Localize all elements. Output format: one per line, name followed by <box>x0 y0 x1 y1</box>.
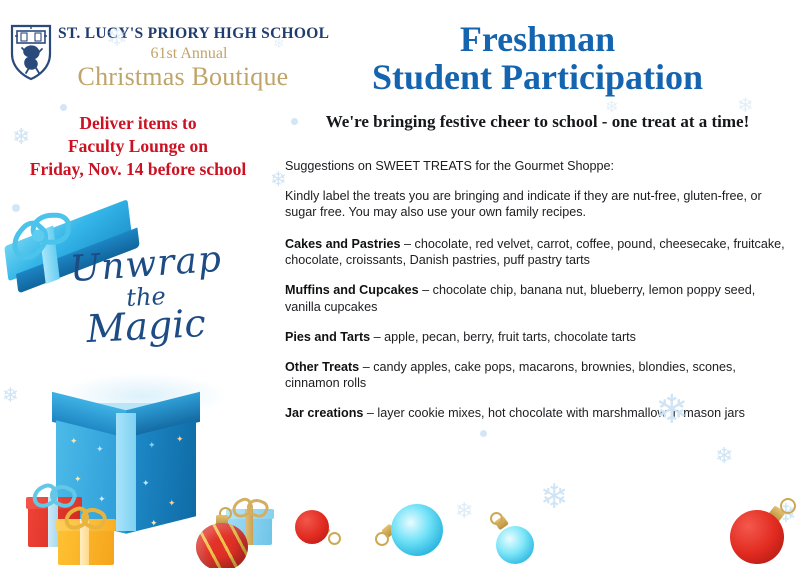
left-panel: ST. LUCY'S PRIORY HIGH SCHOOL 61st Annua… <box>0 0 275 568</box>
category-pies-and-tarts: Pies and Tarts – apple, pecan, berry, fr… <box>285 329 790 346</box>
category-cakes-and-pastries: Cakes and Pastries – chocolate, red velv… <box>285 236 790 269</box>
snowflake-icon: ❄ <box>273 36 285 50</box>
gift-illustration-group: Unwrap the Magic ✦ ✦ ✦ ✦ ✦ ✦ ✦ ✦ ✦ <box>0 195 275 568</box>
category-muffins-and-cupcakes: Muffins and Cupcakes – chocolate chip, b… <box>285 282 790 315</box>
page-title: Freshman Student Participation <box>285 20 790 96</box>
gift-box-yellow-icon <box>58 515 114 565</box>
ornament-red-large-icon <box>730 496 800 568</box>
snowflake-icon: ❄ <box>270 170 287 190</box>
decorative-dot <box>12 204 20 212</box>
category-name: Other Treats <box>285 360 359 374</box>
category-name: Muffins and Cupcakes <box>285 283 419 297</box>
ornament-red-small-icon <box>295 508 339 556</box>
snowflake-icon: ❄ <box>737 96 754 116</box>
category-name: Jar creations <box>285 406 363 420</box>
category-dash: – <box>359 360 373 374</box>
snowflake-icon: ❄ <box>106 24 128 50</box>
snowflake-icon: ❄ <box>540 480 569 514</box>
snowflake-icon: ❄ <box>2 386 19 406</box>
delivery-line-2: Faculty Lounge on <box>6 135 270 158</box>
unwrap-the-magic-script: Unwrap the Magic <box>46 247 246 345</box>
category-jar-creations: Jar creations – layer cookie mixes, hot … <box>285 405 790 422</box>
snowflake-icon: ❄ <box>12 126 30 148</box>
category-other-treats: Other Treats – candy apples, cake pops, … <box>285 359 790 392</box>
headline-line-2: Student Participation <box>285 58 790 96</box>
snowflake-icon: ❄ <box>455 500 473 522</box>
instructions-text: Kindly label the treats you are bringing… <box>285 188 790 221</box>
category-dash: – <box>370 330 384 344</box>
snowflake-icon: ❄ <box>655 390 689 430</box>
tagline: We're bringing festive cheer to school -… <box>280 112 795 132</box>
decorative-dot <box>480 430 487 437</box>
category-dash: – <box>419 283 433 297</box>
decorative-dot <box>291 118 298 125</box>
snowflake-icon: ❄ <box>715 445 733 467</box>
category-dash: – <box>401 237 415 251</box>
decorative-dot <box>60 104 67 111</box>
category-dash: – <box>363 406 377 420</box>
intro-text: Suggestions on SWEET TREATS for the Gour… <box>285 158 790 175</box>
category-name: Cakes and Pastries <box>285 237 401 251</box>
category-items: apple, pecan, berry, fruit tarts, chocol… <box>384 330 636 344</box>
category-name: Pies and Tarts <box>285 330 370 344</box>
ornament-cyan-small-icon <box>490 512 534 558</box>
category-items: layer cookie mixes, hot chocolate with m… <box>377 406 744 420</box>
right-panel: Freshman Student Participation We're bri… <box>275 0 800 568</box>
body-copy: Suggestions on SWEET TREATS for the Gour… <box>285 158 790 435</box>
snowflake-icon: ❄ <box>605 100 618 116</box>
delivery-line-3: Friday, Nov. 14 before school <box>6 158 270 181</box>
headline-line-1: Freshman <box>285 20 790 58</box>
ornament-striped-red-icon <box>196 513 248 568</box>
delivery-line-1: Deliver items to <box>6 112 270 135</box>
delivery-instructions: Deliver items to Faculty Lounge on Frida… <box>6 112 270 181</box>
ornament-cyan-large-icon <box>383 500 445 562</box>
christmas-boutique-flyer: ST. LUCY'S PRIORY HIGH SCHOOL 61st Annua… <box>0 0 800 568</box>
